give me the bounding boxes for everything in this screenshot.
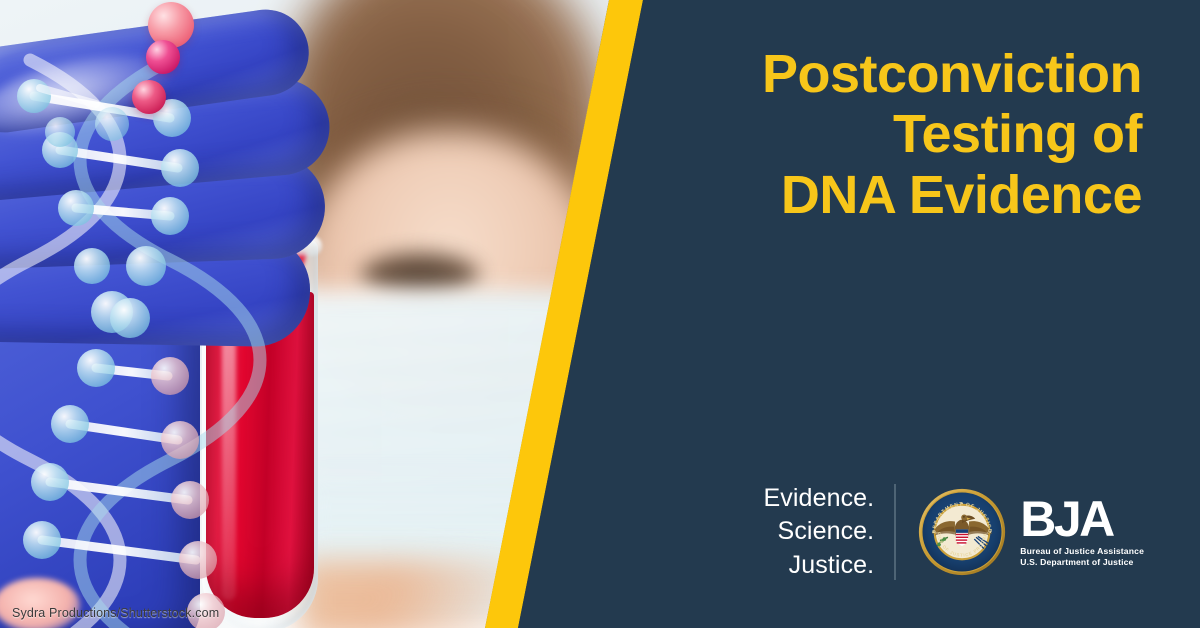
magenta-sphere-2 (146, 40, 180, 74)
bja-subtitle-line-1: Bureau of Justice Assistance (1020, 546, 1144, 557)
tagline: Evidence. Science. Justice. (764, 482, 895, 583)
photo-credit: Sydra Productions/Shutterstock.com (12, 606, 219, 620)
background-papers (300, 560, 530, 628)
title-line-2: Testing of (622, 104, 1142, 164)
bja-subtitle: Bureau of Justice Assistance U.S. Depart… (1020, 546, 1144, 568)
magenta-sphere-3 (132, 80, 166, 114)
title-line-3: DNA Evidence (622, 165, 1142, 225)
tagline-line-2: Science. (764, 515, 875, 549)
eagle-seal-icon: DEPARTMENT OF JUSTICE OFFICE OF JUSTICE … (918, 488, 1006, 576)
bja-wordmark: BJA (1020, 495, 1144, 543)
bja-logo: BJA Bureau of Justice Assistance U.S. De… (1020, 495, 1144, 568)
tagline-line-3: Justice. (764, 549, 875, 583)
bja-subtitle-line-2: U.S. Department of Justice (1020, 557, 1144, 568)
title-line-1: Postconviction (622, 44, 1142, 104)
banner: Postconviction Testing of DNA Evidence E… (0, 0, 1200, 628)
footer-branding: Evidence. Science. Justice. (764, 482, 1144, 583)
page-title: Postconviction Testing of DNA Evidence (622, 44, 1142, 225)
tagline-line-1: Evidence. (764, 482, 875, 516)
vertical-divider (894, 484, 896, 580)
